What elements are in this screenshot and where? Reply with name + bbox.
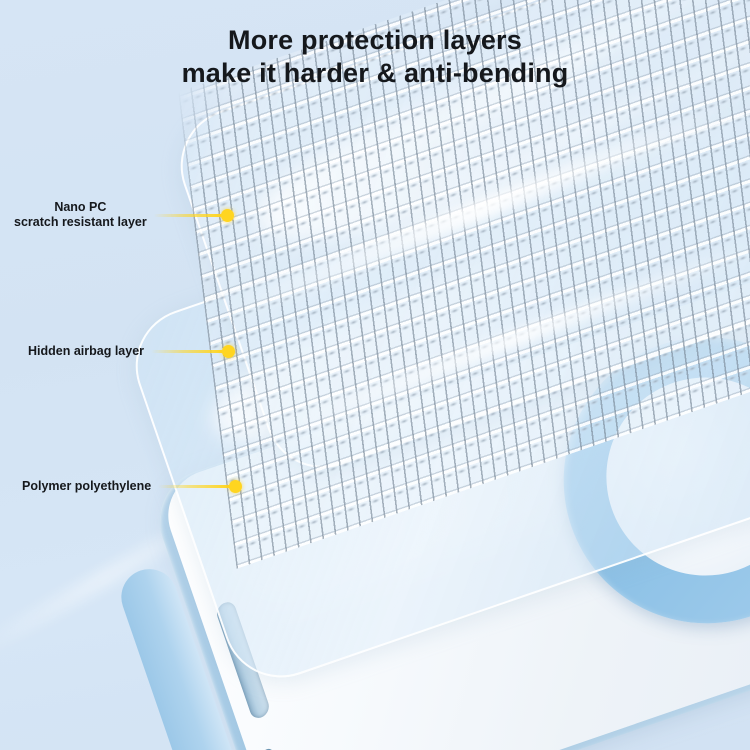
callout-label: Polymer polyethylene [22,479,151,494]
callout-nano-pc: Nano PC scratch resistant layer [14,200,234,230]
headline-line-2: make it harder & anti-bending [0,57,750,90]
callout-polymer-polyethylene: Polymer polyethylene [22,479,242,494]
callout-hidden-airbag: Hidden airbag layer [28,344,235,359]
callout-label: Hidden airbag layer [28,344,144,359]
yellow-dot-icon [222,345,235,358]
callout-label: Nano PC scratch resistant layer [14,200,147,230]
leader-line [154,214,222,217]
leader-line [158,485,230,488]
headline-line-1: More protection layers [0,24,750,57]
leader-line [151,350,223,353]
page-title: More protection layers make it harder & … [0,24,750,90]
yellow-dot-icon [229,480,242,493]
product-feature-image: More protection layers make it harder & … [0,0,750,750]
yellow-dot-icon [221,209,234,222]
